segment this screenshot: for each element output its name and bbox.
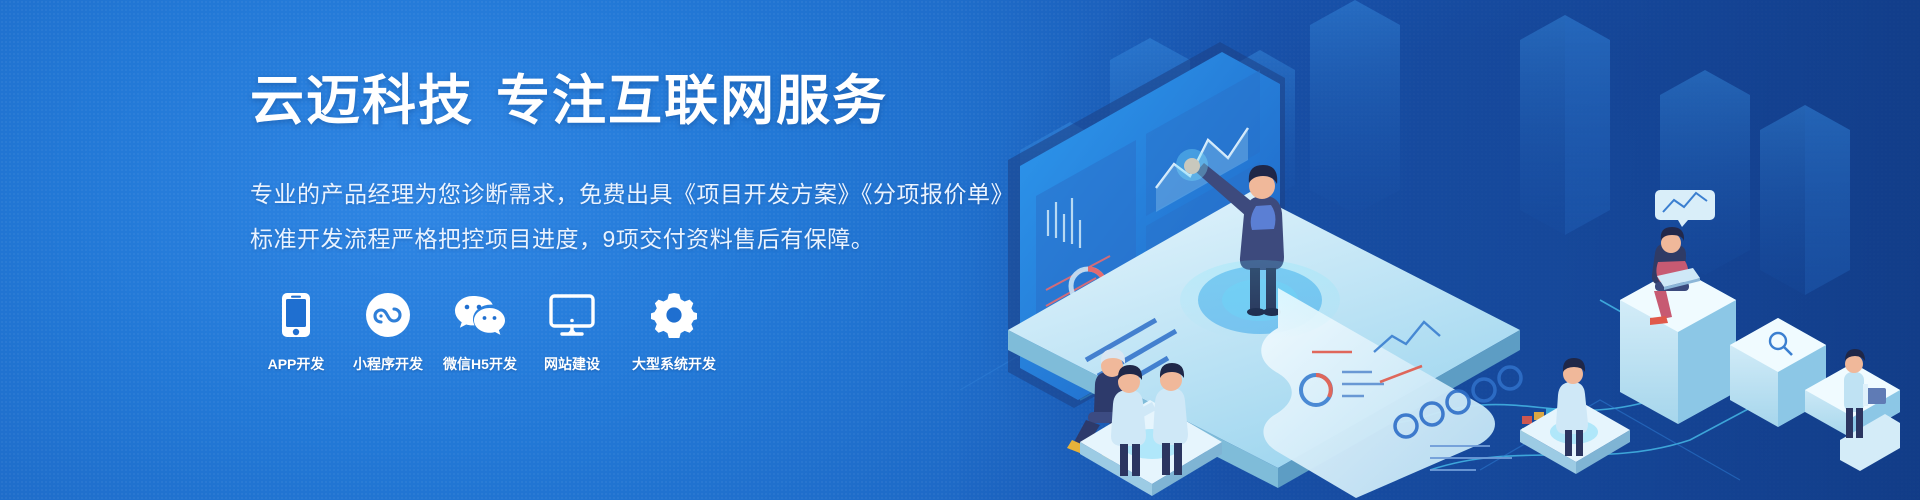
- service-item-app[interactable]: APP开发: [250, 288, 342, 374]
- service-label: 网站建设: [544, 354, 600, 374]
- headline-tagline: 专注互联网服务: [496, 71, 888, 131]
- service-item-website[interactable]: 网站建设: [526, 288, 618, 374]
- service-label: 小程序开发: [353, 354, 423, 374]
- hero-banner: 云迈科技专注互联网服务 专业的产品经理为您诊断需求，免费出具《项目开发方案》《分…: [0, 0, 1920, 500]
- subtitle-line-2: 标准开发流程严格把控项目进度，9项交付资料售后有保障。: [250, 228, 874, 251]
- service-label: 大型系统开发: [632, 354, 716, 374]
- page-title: 云迈科技专注互联网服务: [250, 74, 888, 128]
- mini-program-icon: [365, 288, 411, 342]
- wechat-icon: [454, 288, 506, 342]
- service-label: APP开发: [268, 354, 325, 374]
- service-label: 微信H5开发: [443, 354, 517, 374]
- headline-brand: 云迈科技: [250, 71, 474, 131]
- service-item-large-system[interactable]: 大型系统开发: [618, 288, 730, 374]
- service-icon-row: APP开发 小程序开发 微信H5开发: [250, 288, 730, 374]
- gear-icon: [651, 288, 697, 342]
- service-item-wechat-h5[interactable]: 微信H5开发: [434, 288, 526, 374]
- monitor-icon: [549, 288, 595, 342]
- hero-content: 云迈科技专注互联网服务 专业的产品经理为您诊断需求，免费出具《项目开发方案》《分…: [250, 0, 1110, 500]
- service-item-miniprogram[interactable]: 小程序开发: [342, 288, 434, 374]
- mobile-phone-icon: [281, 288, 311, 342]
- subtitle-line-1: 专业的产品经理为您诊断需求，免费出具《项目开发方案》《分项报价单》: [250, 183, 1014, 206]
